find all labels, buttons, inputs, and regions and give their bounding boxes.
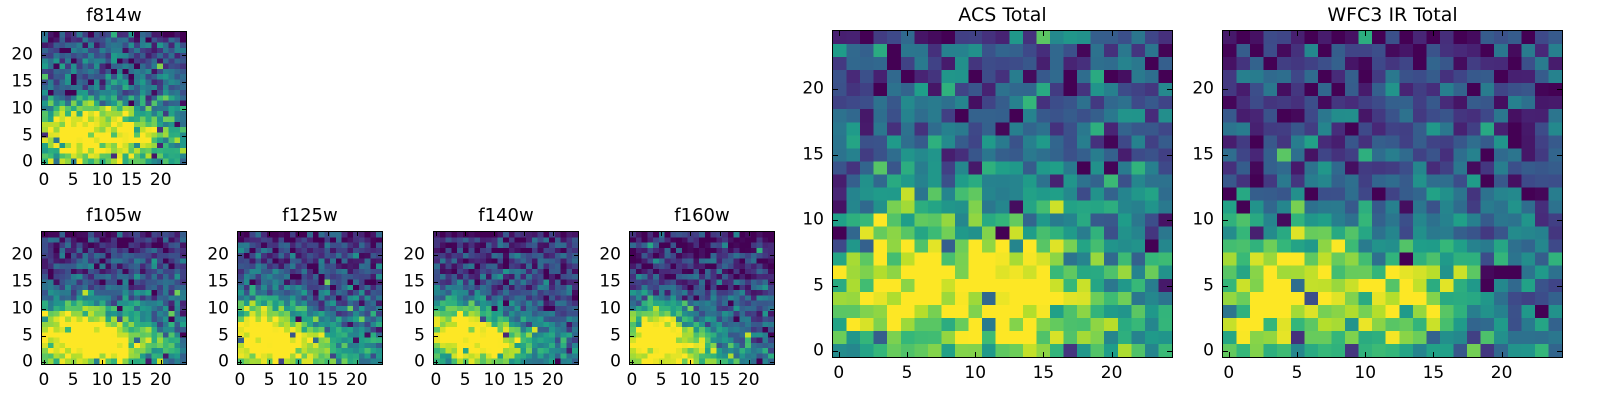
xtick-f814w-5 (73, 160, 74, 165)
xtick-top-wfc3-ir-total-5 (1297, 30, 1298, 36)
xticklabel-wfc3-ir-total-10: 10 (1354, 365, 1376, 382)
xtick-top-f814w-20 (161, 31, 162, 36)
axes-acs-total (832, 30, 1173, 358)
ytick-acs-total-10 (832, 220, 838, 221)
xticklabel-acs-total-5: 5 (902, 365, 913, 382)
ytick-f140w-20 (433, 255, 438, 256)
yticklabel-acs-total-20: 20 (772, 81, 824, 98)
ytick-right-f814w-0 (182, 162, 187, 163)
ytick-right-wfc3-ir-total-20 (1557, 89, 1563, 90)
yticklabel-f160w-0: 0 (569, 354, 621, 371)
xticklabel-f814w-0: 0 (38, 172, 49, 189)
xticklabel-f125w-20: 20 (346, 372, 368, 389)
xtick-top-f160w-15 (720, 231, 721, 236)
yticklabel-f105w-5: 5 (0, 327, 33, 344)
xticklabel-f125w-10: 10 (287, 372, 309, 389)
yticklabel-acs-total-15: 15 (772, 146, 824, 163)
xticklabel-acs-total-20: 20 (1101, 365, 1123, 382)
yticklabel-f160w-5: 5 (569, 327, 621, 344)
yticklabel-f814w-20: 20 (0, 47, 33, 64)
xtick-f814w-15 (132, 160, 133, 165)
xtick-top-f140w-15 (524, 231, 525, 236)
yticklabel-f105w-20: 20 (0, 247, 33, 264)
heatmap-image-acs-total (833, 31, 1172, 357)
xticklabel-f140w-10: 10 (483, 372, 505, 389)
xtick-top-f105w-10 (102, 231, 103, 236)
xticklabel-wfc3-ir-total-15: 15 (1423, 365, 1445, 382)
ytick-wfc3-ir-total-20 (1222, 89, 1228, 90)
xtick-acs-total-5 (907, 352, 908, 358)
panel-title-f105w: f105w (41, 207, 187, 225)
xtick-top-wfc3-ir-total-20 (1502, 30, 1503, 36)
ytick-wfc3-ir-total-5 (1222, 286, 1228, 287)
xtick-top-acs-total-15 (1043, 30, 1044, 36)
xtick-f105w-10 (102, 360, 103, 365)
ytick-f105w-0 (41, 362, 46, 363)
xtick-top-f105w-5 (73, 231, 74, 236)
xtick-top-f160w-10 (690, 231, 691, 236)
ytick-f160w-5 (629, 336, 634, 337)
xticklabel-f814w-10: 10 (91, 172, 113, 189)
xtick-top-f814w-5 (73, 31, 74, 36)
ytick-f125w-0 (237, 362, 242, 363)
xtick-acs-total-10 (975, 352, 976, 358)
heatmap-image-wfc3-ir-total (1223, 31, 1562, 357)
ytick-f160w-10 (629, 309, 634, 310)
ytick-f105w-10 (41, 309, 46, 310)
xtick-f814w-20 (161, 160, 162, 165)
xtick-wfc3-ir-total-5 (1297, 352, 1298, 358)
xtick-top-acs-total-5 (907, 30, 908, 36)
yticklabel-acs-total-10: 10 (772, 212, 824, 229)
matplotlib-figure: f814w0510152005101520f105w05101520051015… (0, 0, 1600, 400)
axes-f140w (433, 231, 579, 365)
ytick-f125w-15 (237, 282, 242, 283)
panel-f105w: f105w0510152005101520 (0, 207, 187, 401)
xtick-top-wfc3-ir-total-10 (1365, 30, 1366, 36)
ytick-f814w-0 (41, 162, 46, 163)
ytick-right-wfc3-ir-total-10 (1557, 220, 1563, 221)
xtick-top-f125w-15 (328, 231, 329, 236)
xtick-acs-total-15 (1043, 352, 1044, 358)
yticklabel-acs-total-5: 5 (772, 277, 824, 294)
xtick-top-f140w-20 (553, 231, 554, 236)
xticklabel-f140w-15: 15 (513, 372, 535, 389)
xtick-f125w-20 (357, 360, 358, 365)
ytick-right-f814w-10 (182, 109, 187, 110)
xtick-wfc3-ir-total-0 (1229, 352, 1230, 358)
axes-f814w (41, 31, 187, 165)
yticklabel-wfc3-ir-total-10: 10 (1162, 212, 1214, 229)
xticklabel-f140w-20: 20 (542, 372, 564, 389)
xtick-acs-total-0 (839, 352, 840, 358)
panel-f814w: f814w0510152005101520 (0, 7, 187, 201)
xticklabel-f125w-5: 5 (264, 372, 275, 389)
xticklabel-f125w-0: 0 (234, 372, 245, 389)
xtick-top-f105w-20 (161, 231, 162, 236)
yticklabel-f160w-20: 20 (569, 247, 621, 264)
xtick-top-wfc3-ir-total-15 (1433, 30, 1434, 36)
ytick-f140w-5 (433, 336, 438, 337)
ytick-f125w-5 (237, 336, 242, 337)
xticklabel-f140w-0: 0 (430, 372, 441, 389)
xtick-top-f160w-0 (632, 231, 633, 236)
ytick-f125w-10 (237, 309, 242, 310)
ytick-acs-total-15 (832, 155, 838, 156)
panel-acs-total: ACS Total0510152005101520 (772, 6, 1173, 394)
ytick-acs-total-0 (832, 351, 838, 352)
xticklabel-f814w-15: 15 (121, 172, 143, 189)
yticklabel-f140w-10: 10 (373, 300, 425, 317)
yticklabel-f814w-15: 15 (0, 73, 33, 90)
xtick-wfc3-ir-total-20 (1502, 352, 1503, 358)
xtick-top-f125w-5 (269, 231, 270, 236)
axes-f160w (629, 231, 775, 365)
xticklabel-acs-total-10: 10 (964, 365, 986, 382)
ytick-f814w-15 (41, 82, 46, 83)
yticklabel-f125w-0: 0 (177, 354, 229, 371)
yticklabel-acs-total-0: 0 (772, 343, 824, 360)
axes-f105w (41, 231, 187, 365)
heatmap-image-f140w (434, 232, 578, 364)
xticklabel-f105w-10: 10 (91, 372, 113, 389)
xticklabel-f814w-5: 5 (68, 172, 79, 189)
yticklabel-f140w-5: 5 (373, 327, 425, 344)
yticklabel-f140w-20: 20 (373, 247, 425, 264)
xticklabel-f105w-20: 20 (150, 372, 172, 389)
ytick-f140w-10 (433, 309, 438, 310)
ytick-f160w-0 (629, 362, 634, 363)
ytick-right-wfc3-ir-total-0 (1557, 351, 1563, 352)
xtick-top-f140w-0 (436, 231, 437, 236)
panel-wfc3-ir-total: WFC3 IR Total0510152005101520 (1162, 6, 1563, 394)
ytick-f140w-15 (433, 282, 438, 283)
xtick-f125w-5 (269, 360, 270, 365)
xticklabel-f160w-20: 20 (738, 372, 760, 389)
xticklabel-f160w-10: 10 (679, 372, 701, 389)
ytick-right-wfc3-ir-total-15 (1557, 155, 1563, 156)
heatmap-image-f125w (238, 232, 382, 364)
yticklabel-f160w-15: 15 (569, 273, 621, 290)
xtick-wfc3-ir-total-10 (1365, 352, 1366, 358)
xticklabel-f105w-0: 0 (38, 372, 49, 389)
panel-title-wfc3-ir-total: WFC3 IR Total (1222, 6, 1563, 25)
xtick-top-f125w-10 (298, 231, 299, 236)
axes-f125w (237, 231, 383, 365)
heatmap-image-f105w (42, 232, 186, 364)
yticklabel-f814w-5: 5 (0, 127, 33, 144)
ytick-f160w-15 (629, 282, 634, 283)
yticklabel-f105w-0: 0 (0, 354, 33, 371)
xticklabel-f105w-15: 15 (121, 372, 143, 389)
yticklabel-f105w-15: 15 (0, 273, 33, 290)
xtick-wfc3-ir-total-15 (1433, 352, 1434, 358)
xtick-f160w-15 (720, 360, 721, 365)
xtick-top-f814w-15 (132, 31, 133, 36)
yticklabel-wfc3-ir-total-0: 0 (1162, 343, 1214, 360)
yticklabel-f125w-20: 20 (177, 247, 229, 264)
ytick-f140w-0 (433, 362, 438, 363)
ytick-f814w-5 (41, 136, 46, 137)
xtick-top-f125w-0 (240, 231, 241, 236)
xtick-f160w-5 (661, 360, 662, 365)
yticklabel-f814w-10: 10 (0, 100, 33, 117)
xtick-f125w-15 (328, 360, 329, 365)
yticklabel-f140w-0: 0 (373, 354, 425, 371)
xtick-top-f125w-20 (357, 231, 358, 236)
yticklabel-f160w-10: 10 (569, 300, 621, 317)
ytick-right-f814w-20 (182, 55, 187, 56)
ytick-f814w-10 (41, 109, 46, 110)
ytick-f160w-20 (629, 255, 634, 256)
panel-title-acs-total: ACS Total (832, 6, 1173, 25)
yticklabel-f105w-10: 10 (0, 300, 33, 317)
xtick-top-f160w-20 (749, 231, 750, 236)
panel-f140w: f140w0510152005101520 (373, 207, 579, 401)
yticklabel-f814w-0: 0 (0, 154, 33, 171)
xticklabel-f160w-0: 0 (626, 372, 637, 389)
xticklabel-f814w-20: 20 (150, 172, 172, 189)
yticklabel-wfc3-ir-total-5: 5 (1162, 277, 1214, 294)
yticklabel-f140w-15: 15 (373, 273, 425, 290)
yticklabel-wfc3-ir-total-20: 20 (1162, 81, 1214, 98)
xtick-top-acs-total-20 (1112, 30, 1113, 36)
xtick-top-wfc3-ir-total-0 (1229, 30, 1230, 36)
ytick-right-f814w-5 (182, 136, 187, 137)
xtick-f140w-10 (494, 360, 495, 365)
xticklabel-acs-total-15: 15 (1033, 365, 1055, 382)
xticklabel-f105w-5: 5 (68, 372, 79, 389)
xtick-f125w-10 (298, 360, 299, 365)
panel-title-f125w: f125w (237, 207, 383, 225)
xticklabel-f160w-15: 15 (709, 372, 731, 389)
xticklabel-f160w-5: 5 (656, 372, 667, 389)
panel-f160w: f160w0510152005101520 (569, 207, 775, 401)
xtick-top-f160w-5 (661, 231, 662, 236)
ytick-acs-total-20 (832, 89, 838, 90)
xtick-f814w-10 (102, 160, 103, 165)
xticklabel-wfc3-ir-total-0: 0 (1223, 365, 1234, 382)
xtick-f105w-5 (73, 360, 74, 365)
xtick-f160w-10 (690, 360, 691, 365)
xtick-f105w-20 (161, 360, 162, 365)
ytick-wfc3-ir-total-15 (1222, 155, 1228, 156)
ytick-right-f814w-15 (182, 82, 187, 83)
ytick-acs-total-5 (832, 286, 838, 287)
panel-title-f140w: f140w (433, 207, 579, 225)
ytick-wfc3-ir-total-0 (1222, 351, 1228, 352)
xtick-top-f140w-10 (494, 231, 495, 236)
xticklabel-wfc3-ir-total-5: 5 (1292, 365, 1303, 382)
xticklabel-f140w-5: 5 (460, 372, 471, 389)
xtick-f140w-20 (553, 360, 554, 365)
xtick-top-f105w-0 (44, 231, 45, 236)
yticklabel-f125w-5: 5 (177, 327, 229, 344)
xtick-f140w-5 (465, 360, 466, 365)
xticklabel-acs-total-0: 0 (833, 365, 844, 382)
axes-wfc3-ir-total (1222, 30, 1563, 358)
xtick-top-f814w-0 (44, 31, 45, 36)
ytick-wfc3-ir-total-10 (1222, 220, 1228, 221)
xtick-f140w-15 (524, 360, 525, 365)
ytick-f814w-20 (41, 55, 46, 56)
xtick-top-f140w-5 (465, 231, 466, 236)
yticklabel-f125w-15: 15 (177, 273, 229, 290)
xticklabel-wfc3-ir-total-20: 20 (1491, 365, 1513, 382)
xtick-f105w-15 (132, 360, 133, 365)
yticklabel-f125w-10: 10 (177, 300, 229, 317)
panel-title-f814w: f814w (41, 7, 187, 25)
heatmap-image-f160w (630, 232, 774, 364)
ytick-right-wfc3-ir-total-5 (1557, 286, 1563, 287)
xtick-acs-total-20 (1112, 352, 1113, 358)
heatmap-image-f814w (42, 32, 186, 164)
panel-title-f160w: f160w (629, 207, 775, 225)
ytick-f125w-20 (237, 255, 242, 256)
xtick-top-acs-total-0 (839, 30, 840, 36)
xtick-f160w-20 (749, 360, 750, 365)
panel-f125w: f125w0510152005101520 (177, 207, 383, 401)
ytick-f105w-20 (41, 255, 46, 256)
ytick-f105w-5 (41, 336, 46, 337)
xtick-top-f814w-10 (102, 31, 103, 36)
xtick-top-acs-total-10 (975, 30, 976, 36)
xticklabel-f125w-15: 15 (317, 372, 339, 389)
yticklabel-wfc3-ir-total-15: 15 (1162, 146, 1214, 163)
xtick-top-f105w-15 (132, 231, 133, 236)
ytick-f105w-15 (41, 282, 46, 283)
